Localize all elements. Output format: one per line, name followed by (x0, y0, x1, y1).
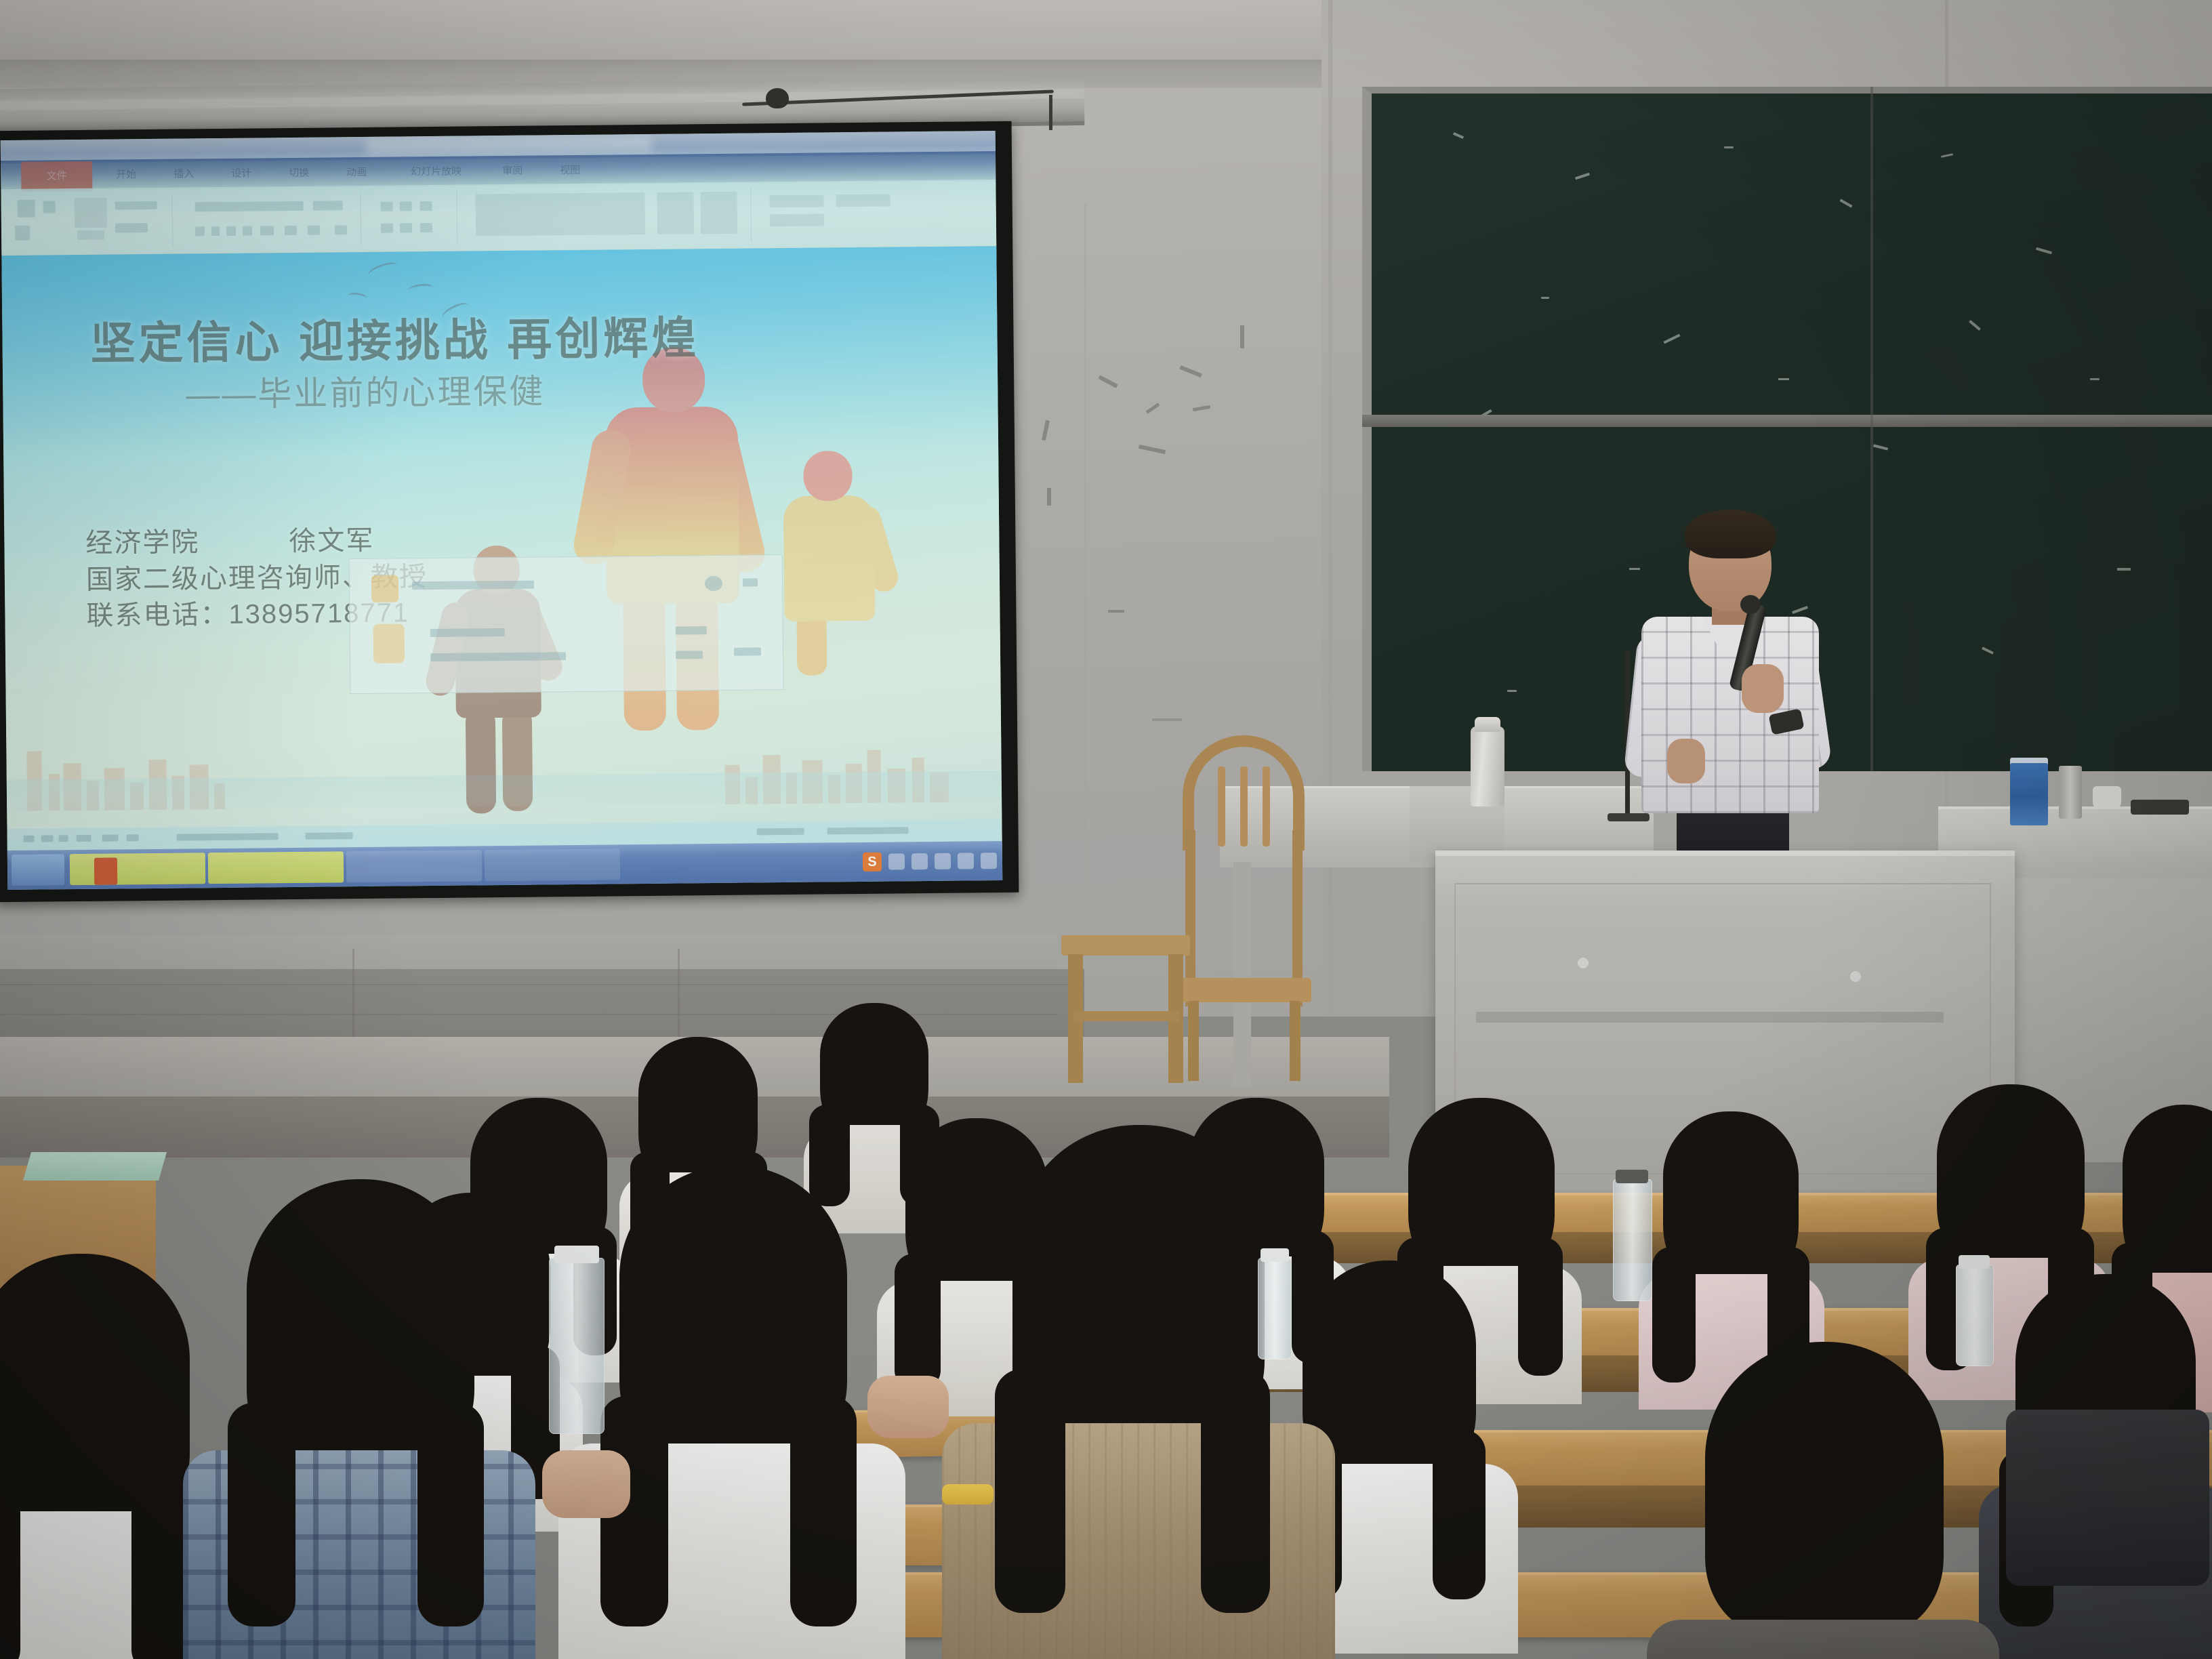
battery-icon[interactable] (958, 853, 974, 869)
popup-thumbnail (373, 623, 405, 663)
thermos (1471, 726, 1504, 806)
wall-mark (1240, 325, 1244, 348)
ribbon-tab-animation[interactable]: 动画 (333, 164, 380, 182)
popup-row-meta (676, 626, 707, 634)
volume-icon[interactable] (888, 853, 905, 869)
speaker-hand-right (1742, 664, 1784, 713)
ribbon-separator (456, 190, 457, 245)
housing-highlight (0, 89, 1084, 110)
font-name-box[interactable] (195, 201, 304, 212)
wall-mark (1047, 488, 1051, 506)
water-bottle (1613, 1179, 1652, 1301)
ribbon-tab-insert[interactable]: 插入 (160, 165, 207, 184)
ribbon-tab-home[interactable]: 开始 (102, 166, 150, 184)
popup-close-icon[interactable] (743, 578, 758, 586)
ribbon-tab-slideshow[interactable]: 幻灯片放映 (390, 163, 482, 181)
wall-seam (1084, 203, 1086, 881)
popup-app-icon (371, 575, 398, 602)
arrange-button[interactable] (657, 192, 694, 234)
chair-seat (1176, 978, 1311, 1002)
audience-person (989, 1125, 1288, 1659)
char-spacing-icon[interactable] (285, 226, 297, 235)
audience-hand (867, 1376, 949, 1438)
slide-title: 坚定信心 迎接挑战 再创辉煌 (90, 300, 836, 373)
audience-hand (542, 1450, 630, 1518)
taskbar-item-powerpoint-2[interactable] (208, 851, 344, 884)
wristband (942, 1484, 994, 1504)
taskbar-item-window-3[interactable] (346, 850, 482, 882)
podium-knob[interactable] (1578, 958, 1589, 968)
floor-tile-line (0, 984, 1084, 985)
microphone-head (1740, 595, 1761, 614)
shadow-icon[interactable] (243, 226, 252, 236)
slide-info-row-dept: 经济学院 徐文军 (85, 520, 614, 562)
new-slide-icon[interactable] (75, 198, 107, 228)
start-button[interactable] (12, 854, 64, 886)
chalkboard-panel-divider (1870, 87, 1873, 771)
chair-spindle (1218, 766, 1225, 846)
student-desk-top (23, 1152, 167, 1181)
shapes-gallery[interactable] (475, 192, 645, 236)
bold-icon[interactable] (195, 226, 205, 236)
chalkboard-rail (1362, 415, 2212, 427)
podium-knob[interactable] (1850, 971, 1861, 982)
change-case-icon[interactable] (308, 226, 320, 235)
paste-icon[interactable] (18, 200, 35, 218)
select-button[interactable] (836, 194, 890, 207)
water-bottle (1956, 1265, 1994, 1366)
audience-person (596, 1166, 867, 1659)
water-bottle (1258, 1258, 1292, 1359)
water-bottle (549, 1258, 605, 1434)
podium-label (1476, 1012, 1944, 1023)
grey-can (2059, 766, 2082, 819)
italic-icon[interactable] (211, 226, 220, 236)
popup-row-detail (430, 652, 566, 661)
font-size-box[interactable] (313, 201, 343, 210)
section-button[interactable] (115, 201, 157, 210)
shield-icon[interactable] (935, 853, 951, 869)
wooden-stool (1061, 935, 1190, 1084)
underline-icon[interactable] (226, 226, 236, 236)
water-bottle-cap (1261, 1248, 1289, 1262)
audience-person (224, 1179, 495, 1659)
stool-rail (1073, 1011, 1179, 1021)
taskbar-item-powerpoint[interactable] (70, 853, 205, 885)
ribbon-separator (171, 193, 173, 247)
copy-icon[interactable] (15, 226, 30, 241)
layout-button[interactable] (77, 230, 104, 240)
blue-box (2010, 763, 2048, 825)
wooden-chair (1176, 735, 1311, 1074)
audience-person (0, 1254, 210, 1659)
notification-popup[interactable] (349, 554, 784, 694)
speaker-person (1626, 515, 1830, 840)
ribbon-tab-design[interactable]: 设计 (218, 165, 265, 183)
speaker-hand-left (1667, 739, 1705, 783)
bullets-icon[interactable] (381, 202, 393, 211)
reset-button[interactable] (115, 223, 148, 232)
ribbon-separator (360, 191, 361, 245)
popup-row-action[interactable] (734, 647, 761, 655)
stool-top (1061, 935, 1190, 956)
wall-mark (1152, 718, 1182, 721)
quick-styles-button[interactable] (700, 192, 737, 234)
network-icon[interactable] (912, 853, 928, 869)
slide-presenter: 徐文军 (289, 523, 375, 560)
powerpoint-ribbon (1, 180, 996, 254)
align-center-icon[interactable] (381, 224, 393, 233)
screen-cord-drop (1049, 95, 1052, 130)
zoom-level[interactable] (757, 828, 804, 836)
popup-row-meta (676, 651, 703, 659)
numbering-icon[interactable] (400, 201, 412, 211)
backpack (2006, 1410, 2209, 1586)
chair-spindle (1263, 766, 1270, 846)
ribbon-tab-review[interactable]: 审阅 (489, 163, 536, 181)
city-skyline (6, 720, 1002, 811)
slide-canvas: 坚定信心 迎接挑战 再创辉煌 ——毕业前的心理保健 经济学院 徐文军 国家二级心… (1, 246, 1002, 838)
titlebar-glow (367, 136, 651, 156)
taskbar-item-window-4[interactable] (485, 848, 620, 881)
ribbon-tab-view[interactable]: 视图 (546, 162, 594, 180)
view-buttons[interactable] (827, 827, 908, 834)
projection-screen: 文件 开始 插入 设计 切换 动画 幻灯片放映 审阅 视图 (1, 131, 1003, 890)
wall-mark (1108, 610, 1124, 613)
system-tray: S (863, 844, 997, 879)
water-bottle-cap (1959, 1255, 1990, 1269)
ribbon-separator (750, 187, 752, 241)
dark-object (2131, 800, 2189, 815)
runner-figure-right (769, 451, 890, 676)
file-tab-button[interactable]: 文件 (21, 161, 92, 192)
popup-action-icon[interactable] (705, 576, 722, 591)
cut-icon[interactable] (43, 201, 56, 213)
powerpoint-icon (94, 857, 117, 884)
audience-person (1654, 1111, 1809, 1369)
replace-button[interactable] (770, 213, 824, 226)
ribbon-tab-transition[interactable]: 切换 (275, 165, 323, 183)
thermos-cap (1475, 717, 1500, 732)
projection-screen-frame: 文件 开始 插入 设计 切换 动画 幻灯片放映 审阅 视图 (0, 121, 1019, 902)
slide-subtitle: ——毕业前的心理保健 (186, 361, 830, 416)
align-left-icon[interactable] (420, 201, 432, 211)
water-bottle-cap (554, 1246, 599, 1263)
lecture-hall-photo: 文件 开始 插入 设计 切换 动画 幻灯片放映 审阅 视图 (0, 0, 2212, 1659)
strikethrough-icon[interactable] (260, 226, 274, 235)
speaker-hair (1685, 510, 1776, 558)
justify-icon[interactable] (420, 223, 432, 232)
font-color-icon[interactable] (335, 225, 347, 234)
clock-icon[interactable] (981, 853, 997, 869)
slide-department: 经济学院 (85, 524, 289, 562)
sogou-input-icon[interactable]: S (863, 853, 882, 872)
screen-pull-knob[interactable] (766, 88, 789, 108)
chair-leg (1290, 1001, 1300, 1081)
audience-person (1681, 1342, 1965, 1659)
popup-row-label (430, 628, 505, 637)
chair-spindle (1240, 766, 1248, 846)
align-right-icon[interactable] (400, 223, 412, 232)
white-cup (2093, 786, 2121, 809)
find-button[interactable] (770, 194, 824, 207)
popup-title-text (412, 581, 534, 590)
water-bottle-cap (1616, 1170, 1648, 1183)
